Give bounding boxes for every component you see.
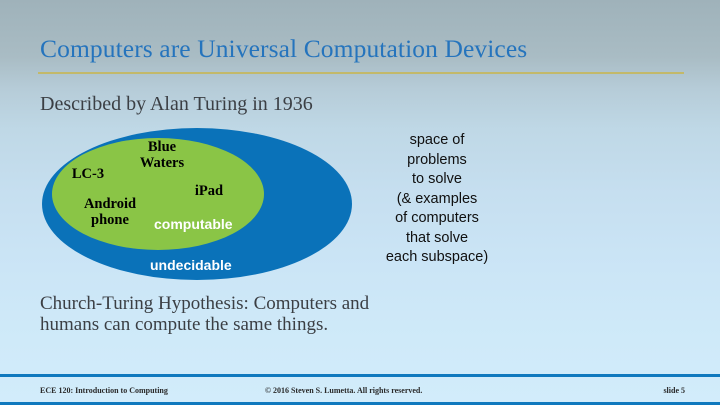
subtitle-text: Described by Alan Turing in 1936 xyxy=(40,92,313,116)
footer-copyright-label: © 2016 Steven S. Lumetta. All rights res… xyxy=(265,386,422,395)
hypothesis-line-1: Church-Turing Hypothesis: Computers and xyxy=(40,293,540,314)
annotation-line-6: that solve xyxy=(352,229,522,249)
example-label-line1: Blue xyxy=(124,139,200,155)
undecidable-set-label: undecidable xyxy=(150,257,232,273)
annotation-line-4: (& examples xyxy=(352,190,522,210)
title-underline-rule xyxy=(38,72,684,74)
example-label-lc-3: LC-3 xyxy=(60,166,116,182)
church-turing-hypothesis-text: Church-Turing Hypothesis: Computers and … xyxy=(40,293,540,335)
diagram-annotation: space of problems to solve (& examples o… xyxy=(352,131,522,268)
annotation-line-3: to solve xyxy=(352,170,522,190)
hypothesis-line-2: humans can compute the same things. xyxy=(40,314,540,335)
computable-set-label: computable xyxy=(154,216,233,232)
page-title: Computers are Universal Computation Devi… xyxy=(40,34,690,64)
annotation-line-5: of computers xyxy=(352,209,522,229)
example-label-blue-waters: Blue Waters xyxy=(124,139,200,171)
footer-divider-rule xyxy=(0,374,720,377)
example-label-ipad: iPad xyxy=(184,183,234,199)
example-label-line2: Waters xyxy=(124,155,200,171)
slide-canvas: Computers are Universal Computation Devi… xyxy=(0,0,720,405)
venn-diagram: Blue Waters LC-3 iPad Android phone comp… xyxy=(42,128,354,282)
footer-course-label: ECE 120: Introduction to Computing xyxy=(40,386,168,395)
annotation-line-1: space of xyxy=(352,131,522,151)
example-label-line2: phone xyxy=(70,212,150,228)
example-label-line1: Android xyxy=(70,196,150,212)
footer-slide-number: slide 5 xyxy=(663,386,685,395)
example-label-android-phone: Android phone xyxy=(70,196,150,228)
annotation-line-2: problems xyxy=(352,151,522,171)
annotation-line-7: each subspace) xyxy=(352,248,522,268)
